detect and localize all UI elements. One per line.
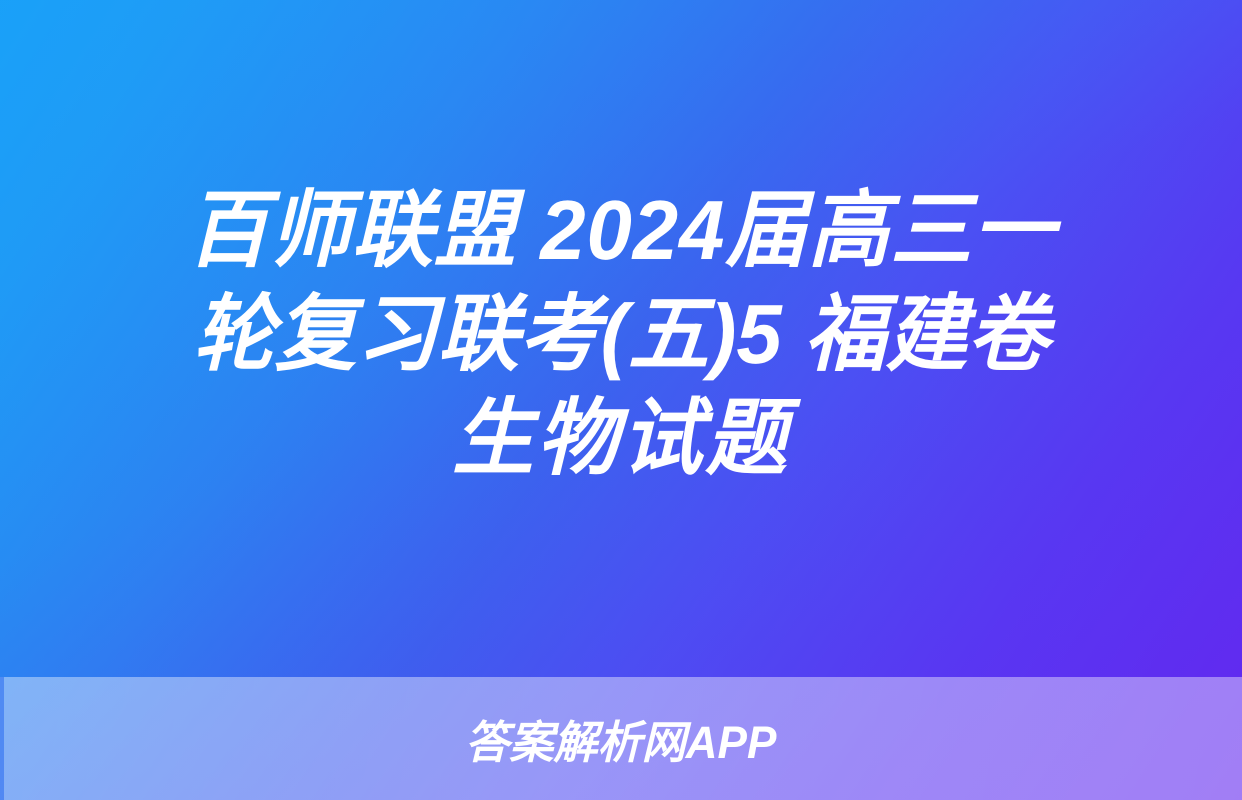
page-title: 百师联盟 2024届高三一 轮复习联考(五)5 福建卷 生物试题 xyxy=(0,178,1242,490)
footer-watermark-band: 答案解析网APP xyxy=(0,677,1242,800)
app-watermark-label: 答案解析网APP xyxy=(465,720,776,765)
title-line-3: 生物试题 xyxy=(75,386,1167,490)
title-line-1: 百师联盟 2024届高三一 xyxy=(75,178,1167,282)
title-line-2: 轮复习联考(五)5 福建卷 xyxy=(75,282,1167,386)
exam-cover-card: 百师联盟 2024届高三一 轮复习联考(五)5 福建卷 生物试题 答案解析网AP… xyxy=(0,0,1242,800)
